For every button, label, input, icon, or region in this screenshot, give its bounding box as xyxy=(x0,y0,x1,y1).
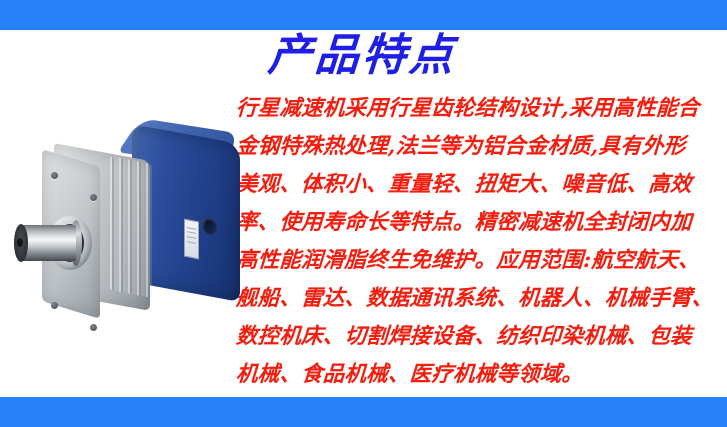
bottom-accent-bar xyxy=(0,397,727,427)
flange-bolt-hole xyxy=(51,172,58,179)
flange-bolt-hole xyxy=(90,324,97,331)
description-line: 美观、体积小、重量轻、扭矩大、噪音低、高效 xyxy=(235,166,723,204)
flange-bolt-hole xyxy=(90,194,97,201)
description-line: 行星减速机采用行星齿轮结构设计,采用高性能合 xyxy=(235,90,723,128)
product-photo-planetary-gear-reducer xyxy=(6,124,246,344)
top-accent-bar xyxy=(0,0,727,30)
product-feature-banner: 产品特点 行星减速机采用行星齿轮结构设计,采用高性能合 金钢特殊热处理,法兰等为… xyxy=(0,0,727,427)
description-line: 机械、食品机械、医疗机械等领域。 xyxy=(235,356,723,394)
housing-nameplate-label xyxy=(184,219,199,260)
page-title: 产品特点 xyxy=(266,28,490,84)
description-line: 数控机床、切割焊接设备、纺织印染机械、包装 xyxy=(235,318,723,356)
description-line: 高性能润滑脂终生免维护。应用范围:航空航天、 xyxy=(235,242,723,280)
gearbox-cooling-ribs xyxy=(110,156,152,298)
flange-bolt-hole xyxy=(51,302,58,309)
description-line: 率、使用寿命长等特点。精密减速机全封闭内加 xyxy=(235,204,723,242)
description-line: 舰船、雷达、数据通讯系统、机器人、机械手臂、 xyxy=(235,280,723,318)
output-shaft-end-face xyxy=(14,224,28,262)
product-description: 行星减速机采用行星齿轮结构设计,采用高性能合 金钢特殊热处理,法兰等为铝合金材质… xyxy=(236,90,722,394)
description-line: 金钢特殊热处理,法兰等为铝合金材质,具有外形 xyxy=(235,128,723,166)
